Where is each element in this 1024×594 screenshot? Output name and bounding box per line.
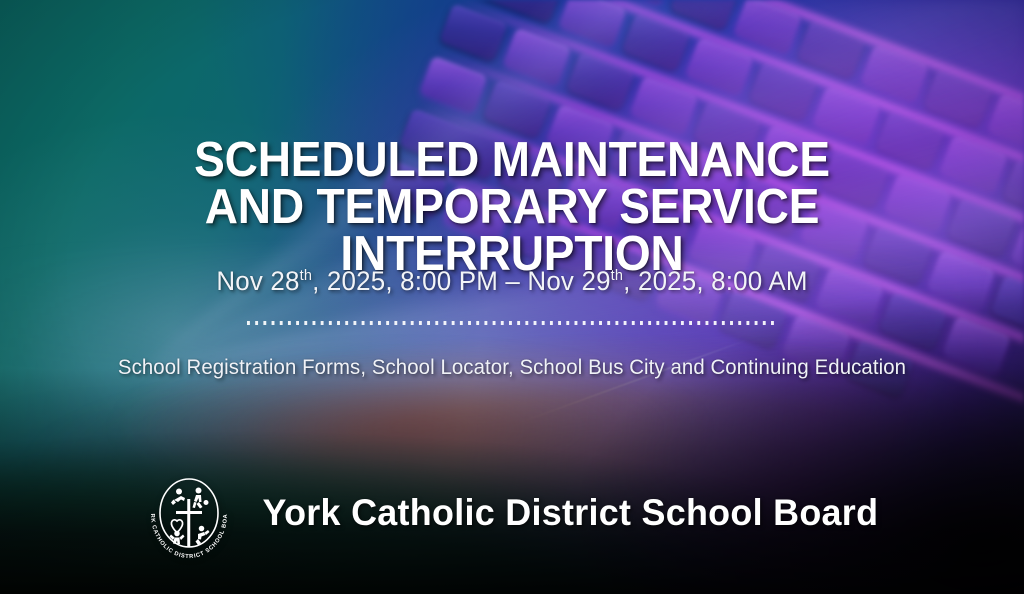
start-datetime-ordinal: th (300, 267, 312, 284)
datetime-separator: – (498, 266, 527, 296)
headline-line-2: AND TEMPORARY SERVICE (31, 184, 994, 231)
headline-line-1: SCHEDULED MAINTENANCE (31, 137, 994, 184)
end-datetime-rest: , 2025, 8:00 AM (623, 266, 807, 296)
board-name-wordmark: York Catholic District School Board (263, 492, 879, 534)
page-title: SCHEDULED MAINTENANCE AND TEMPORARY SERV… (31, 137, 994, 278)
affected-services-text: School Registration Forms, School Locato… (15, 356, 1008, 380)
maintenance-window-datetime: Nov 28th, 2025, 8:00 PM – Nov 29th, 2025… (20, 266, 1003, 297)
logo-lockup: YORK CATHOLIC DISTRICT SCHOOL BOARD York… (139, 463, 888, 563)
start-datetime-day: Nov 28 (216, 266, 299, 296)
maintenance-notice-banner: SCHEDULED MAINTENANCE AND TEMPORARY SERV… (0, 0, 1024, 594)
ycdsb-crest-icon: YORK CATHOLIC DISTRICT SCHOOL BOARD (139, 463, 239, 563)
end-datetime-day: Nov 29 (527, 266, 610, 296)
banner-content: SCHEDULED MAINTENANCE AND TEMPORARY SERV… (0, 0, 1024, 594)
start-datetime-rest: , 2025, 8:00 PM (312, 266, 498, 296)
end-datetime-ordinal: th (611, 267, 623, 284)
dotted-divider (247, 321, 779, 325)
